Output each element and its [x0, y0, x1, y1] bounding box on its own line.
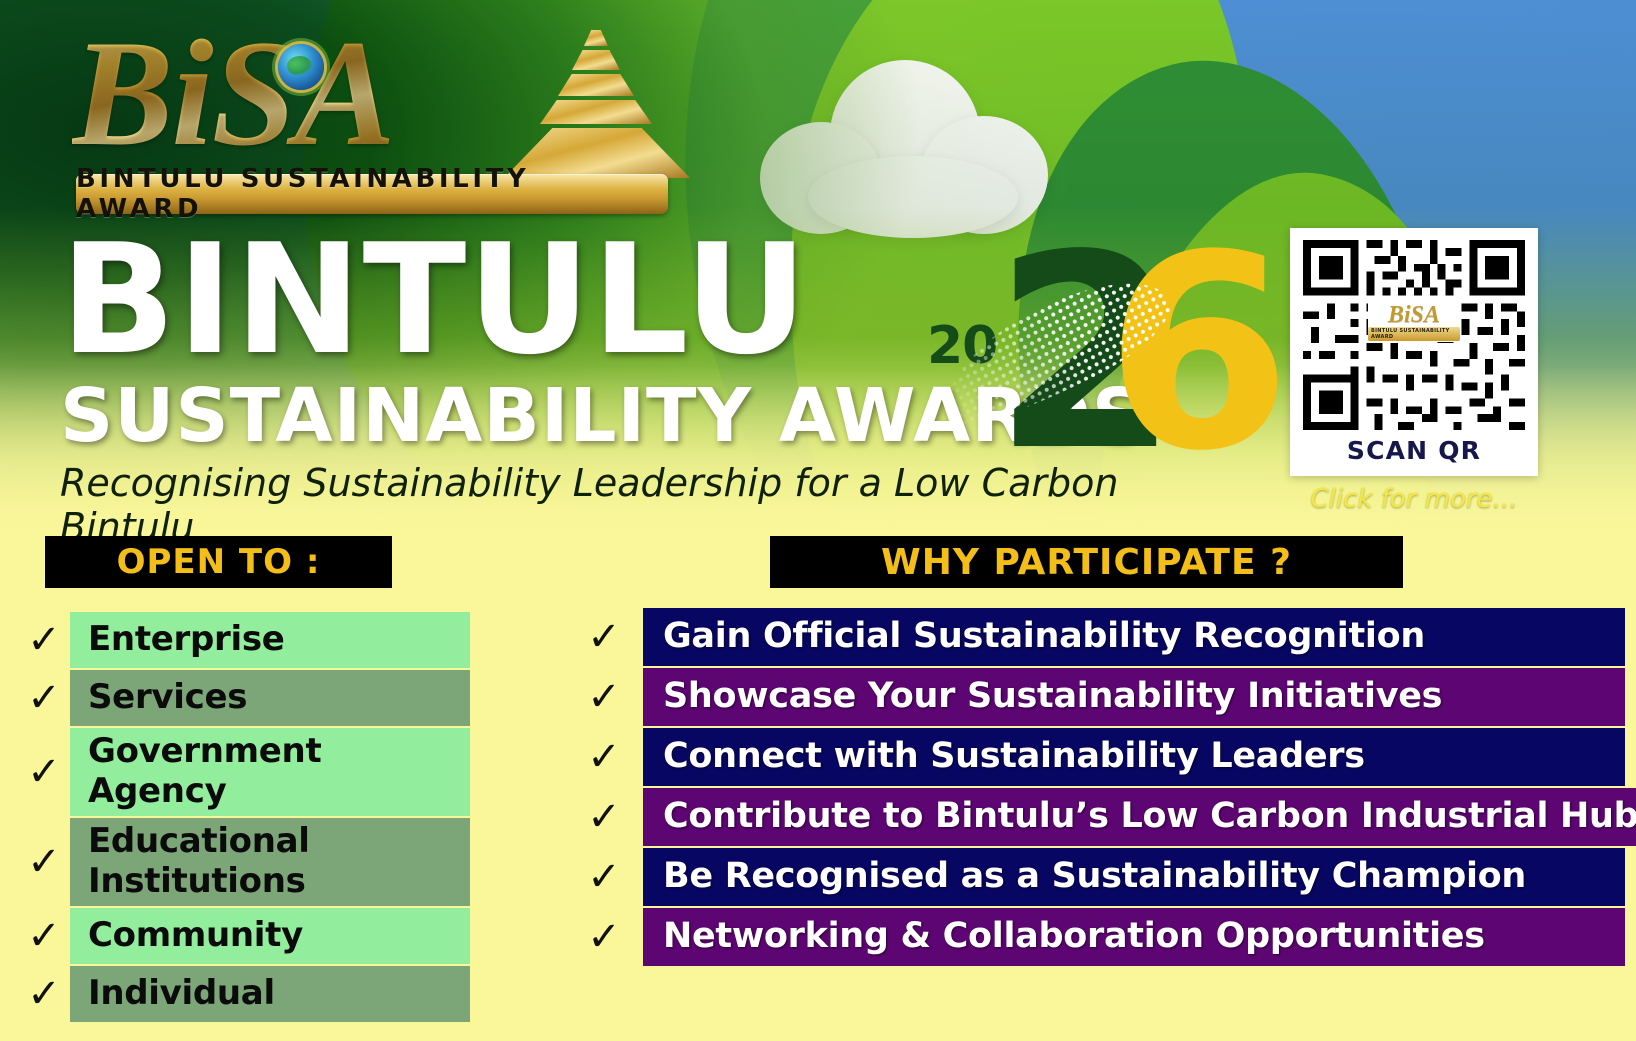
- open-to-banner: OPEN TO :: [45, 536, 392, 588]
- check-icon: ✓: [565, 668, 643, 726]
- check-icon: ✓: [565, 728, 643, 786]
- logo-mark: BiSA: [72, 22, 682, 172]
- list-item-pill: Connect with Sustainability Leaders: [643, 728, 1625, 786]
- click-for-more-link[interactable]: Click for more...: [1290, 484, 1538, 514]
- logo-letters: BiSA: [72, 18, 394, 168]
- globe-icon: [278, 44, 324, 90]
- year-graphic: 2 6 20: [915, 228, 1235, 513]
- list-item-label: Be Recognised as a Sustainability Champi…: [663, 856, 1526, 896]
- check-icon: ✓: [18, 966, 70, 1022]
- list-item-label: Educational Institutions: [88, 821, 470, 901]
- list-item-pill: Showcase Your Sustainability Initiatives: [643, 668, 1625, 726]
- list-item-pill: Networking & Collaboration Opportunities: [643, 908, 1625, 966]
- check-icon: ✓: [565, 848, 643, 906]
- list-item-pill: Be Recognised as a Sustainability Champi…: [643, 848, 1625, 906]
- open-to-list: ✓ Enterprise ✓ Services ✓ Government Age…: [18, 612, 470, 1024]
- qr-code-icon[interactable]: BiSA BINTULU SUSTAINABILITY AWARD: [1302, 240, 1526, 430]
- list-item-label: Government Agency: [88, 731, 470, 811]
- list-item[interactable]: ✓ Contribute to Bintulu’s Low Carbon Ind…: [565, 788, 1625, 846]
- list-item[interactable]: ✓ Enterprise: [18, 612, 470, 668]
- list-item-pill: Services: [70, 670, 470, 726]
- gas-flare-tower-icon: [502, 30, 692, 178]
- list-item[interactable]: ✓ Showcase Your Sustainability Initiativ…: [565, 668, 1625, 726]
- qr-code-card[interactable]: BiSA BINTULU SUSTAINABILITY AWARD SCAN Q…: [1290, 228, 1538, 476]
- open-to-heading: OPEN TO :: [117, 542, 321, 582]
- list-item-pill: Government Agency: [70, 728, 470, 816]
- why-participate-heading: WHY PARTICIPATE ?: [881, 542, 1292, 583]
- qr-caption: SCAN QR: [1302, 436, 1526, 465]
- list-item[interactable]: ✓ Educational Institutions: [18, 818, 470, 906]
- list-item-label: Showcase Your Sustainability Initiatives: [663, 676, 1442, 716]
- list-item-label: Individual: [88, 973, 275, 1013]
- check-icon: ✓: [565, 908, 643, 966]
- bisa-logo: BiSA BINTULU SUSTAINABILITY AWARD: [72, 22, 682, 222]
- qr-logo-sub: BINTULU SUSTAINABILITY AWARD: [1368, 327, 1460, 341]
- qr-logo-letters: BiSA: [1388, 303, 1440, 327]
- list-item-label: Contribute to Bintulu’s Low Carbon Indus…: [663, 796, 1636, 836]
- list-item-label: Community: [88, 915, 303, 955]
- list-item-label: Services: [88, 677, 247, 717]
- list-item-pill: Enterprise: [70, 612, 470, 668]
- list-item-label: Connect with Sustainability Leaders: [663, 736, 1365, 776]
- list-item-pill: Individual: [70, 966, 470, 1022]
- check-icon: ✓: [18, 728, 70, 816]
- list-item-label: Networking & Collaboration Opportunities: [663, 916, 1485, 956]
- list-item-pill: Gain Official Sustainability Recognition: [643, 608, 1625, 666]
- poster-root: BiSA BINTULU SUSTAINABILITY AWARD BINTUL…: [0, 0, 1636, 1041]
- year-digit-6: 6: [1105, 220, 1283, 488]
- list-item-pill: Community: [70, 908, 470, 964]
- list-item-label: Enterprise: [88, 619, 285, 659]
- year-prefix: 20: [927, 316, 997, 376]
- qr-embedded-logo: BiSA BINTULU SUSTAINABILITY AWARD: [1368, 302, 1460, 342]
- list-item[interactable]: ✓ Individual: [18, 966, 470, 1022]
- why-participate-list: ✓ Gain Official Sustainability Recogniti…: [565, 608, 1625, 968]
- list-item[interactable]: ✓ Be Recognised as a Sustainability Cham…: [565, 848, 1625, 906]
- list-item-pill: Educational Institutions: [70, 818, 470, 906]
- list-item[interactable]: ✓ Services: [18, 670, 470, 726]
- list-item-pill: Contribute to Bintulu’s Low Carbon Indus…: [643, 788, 1636, 846]
- list-item[interactable]: ✓ Connect with Sustainability Leaders: [565, 728, 1625, 786]
- why-participate-banner: WHY PARTICIPATE ?: [770, 536, 1403, 588]
- check-icon: ✓: [18, 908, 70, 964]
- check-icon: ✓: [565, 788, 643, 846]
- list-item[interactable]: ✓ Networking & Collaboration Opportuniti…: [565, 908, 1625, 966]
- list-item[interactable]: ✓ Community: [18, 908, 470, 964]
- check-icon: ✓: [18, 612, 70, 668]
- check-icon: ✓: [18, 818, 70, 906]
- logo-nameplate: BINTULU SUSTAINABILITY AWARD: [76, 174, 668, 214]
- list-item[interactable]: ✓ Gain Official Sustainability Recogniti…: [565, 608, 1625, 666]
- list-item[interactable]: ✓ Government Agency: [18, 728, 470, 816]
- check-icon: ✓: [18, 670, 70, 726]
- check-icon: ✓: [565, 608, 643, 666]
- list-item-label: Gain Official Sustainability Recognition: [663, 616, 1425, 656]
